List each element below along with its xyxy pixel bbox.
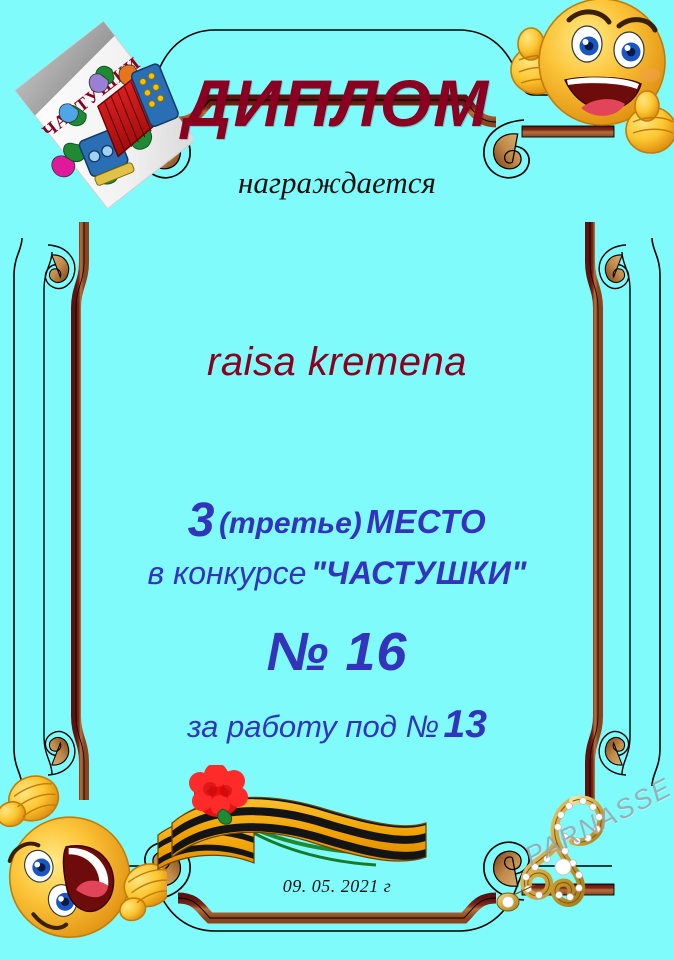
work-for-text: за работу под № [187, 709, 439, 744]
ribbon-band [150, 775, 430, 885]
place-label: МЕСТО [366, 503, 486, 540]
work-number-label: № 16 [0, 625, 674, 679]
award-place-line: 3 (третье) МЕСТО [0, 497, 674, 545]
contest-prefix: в конкурсе [148, 555, 307, 591]
recipient-name: raisa kremena [0, 340, 674, 385]
contest-line: в конкурсе "ЧАСТУШКИ" [0, 557, 674, 589]
st-george-ribbon-carnation-icon [150, 765, 430, 890]
work-for-line: за работу под № 13 [0, 705, 674, 744]
place-word: (третье) [219, 507, 362, 540]
quote-open: " [311, 555, 326, 591]
contest-name: ЧАСТУШКИ [326, 555, 511, 591]
awarded-to-label: награждается [0, 165, 674, 201]
smiley-laughing-icon [0, 765, 167, 940]
place-number: 3 [188, 494, 215, 547]
page-title: ДИПЛОМ [0, 70, 674, 136]
diploma-certificate: ЧАСТУШКИ [0, 0, 674, 960]
issue-date: 09. 05. 2021 г [0, 876, 674, 897]
quote-close: " [511, 555, 526, 591]
work-for-number: 13 [444, 703, 487, 746]
